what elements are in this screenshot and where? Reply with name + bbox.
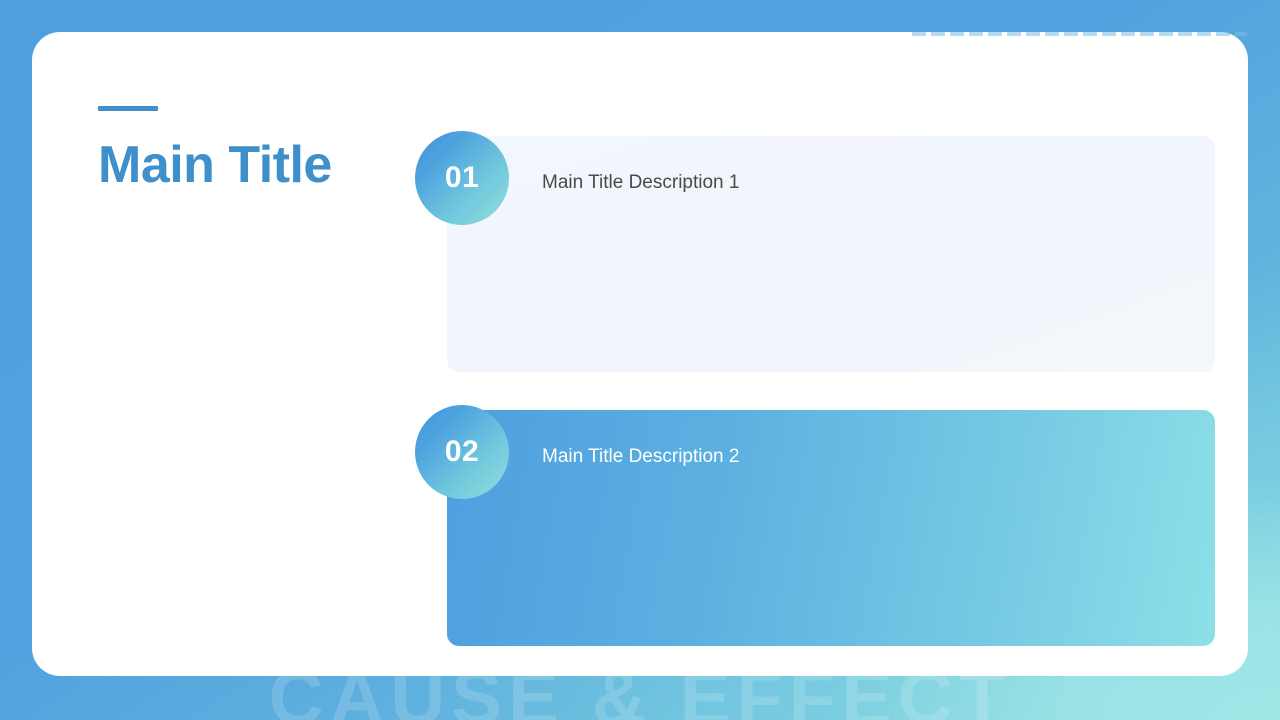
title-accent-bar — [98, 106, 158, 111]
steps-list: Main Title Description 1 01 Main Title D… — [415, 32, 1248, 676]
step-number-badge-02[interactable]: 02 — [415, 405, 509, 499]
step-card-02[interactable]: Main Title Description 2 — [447, 410, 1215, 646]
step-item-01[interactable]: Main Title Description 1 01 — [415, 131, 1215, 372]
slide-background: CAUSE & EFFECT Main Title Main Title Des… — [0, 0, 1280, 720]
step-item-02[interactable]: Main Title Description 2 02 — [415, 405, 1215, 646]
step-number-badge-01[interactable]: 01 — [415, 131, 509, 225]
step-number-label-01: 01 — [445, 161, 479, 195]
step-card-01[interactable]: Main Title Description 1 — [447, 136, 1215, 372]
title-block: Main Title — [98, 106, 368, 198]
step-number-label-02: 02 — [445, 435, 479, 469]
page-title: Main Title — [98, 133, 368, 198]
content-card: Main Title Main Title Description 1 01 M… — [32, 32, 1248, 676]
step-description-02: Main Title Description 2 — [542, 443, 739, 471]
step-description-01: Main Title Description 1 — [542, 169, 739, 197]
